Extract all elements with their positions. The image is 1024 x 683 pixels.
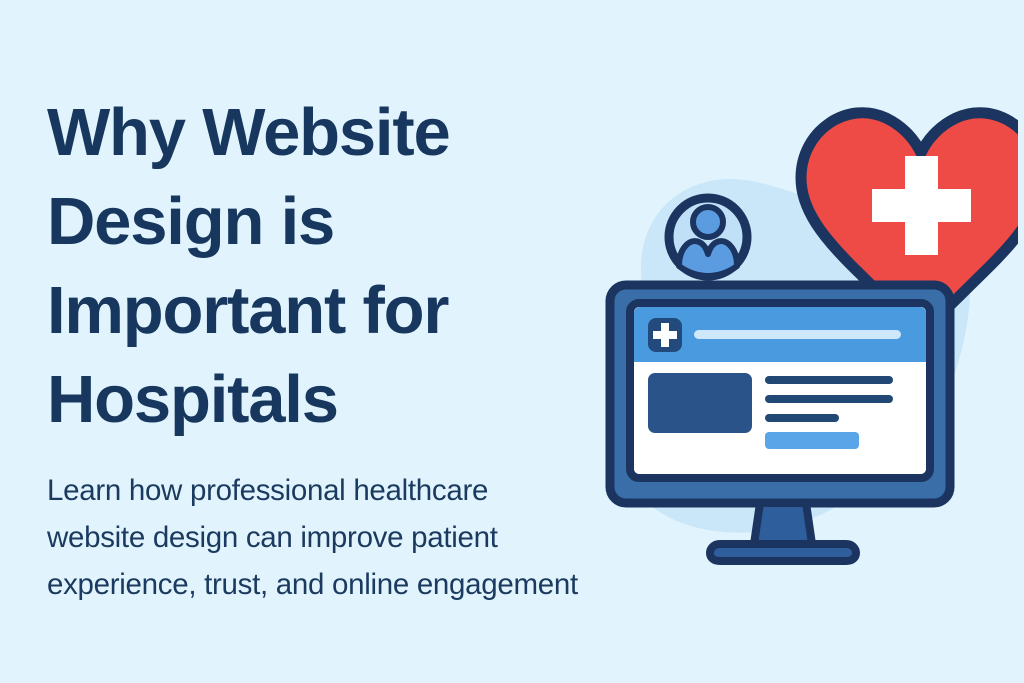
site-text-line — [765, 376, 893, 384]
site-image-placeholder — [648, 373, 752, 433]
desktop-monitor — [610, 285, 950, 561]
monitor-stand-base — [710, 544, 856, 561]
illustration — [548, 70, 1018, 590]
monitor-stand-neck — [754, 503, 812, 544]
patient-avatar-icon — [669, 198, 747, 276]
site-nav-line — [694, 330, 901, 339]
hospital-website-banner: Why Website Design is Important for Hosp… — [0, 0, 1024, 683]
site-cta-button — [765, 432, 859, 449]
site-text-line — [765, 395, 893, 403]
site-text-line — [765, 414, 839, 422]
